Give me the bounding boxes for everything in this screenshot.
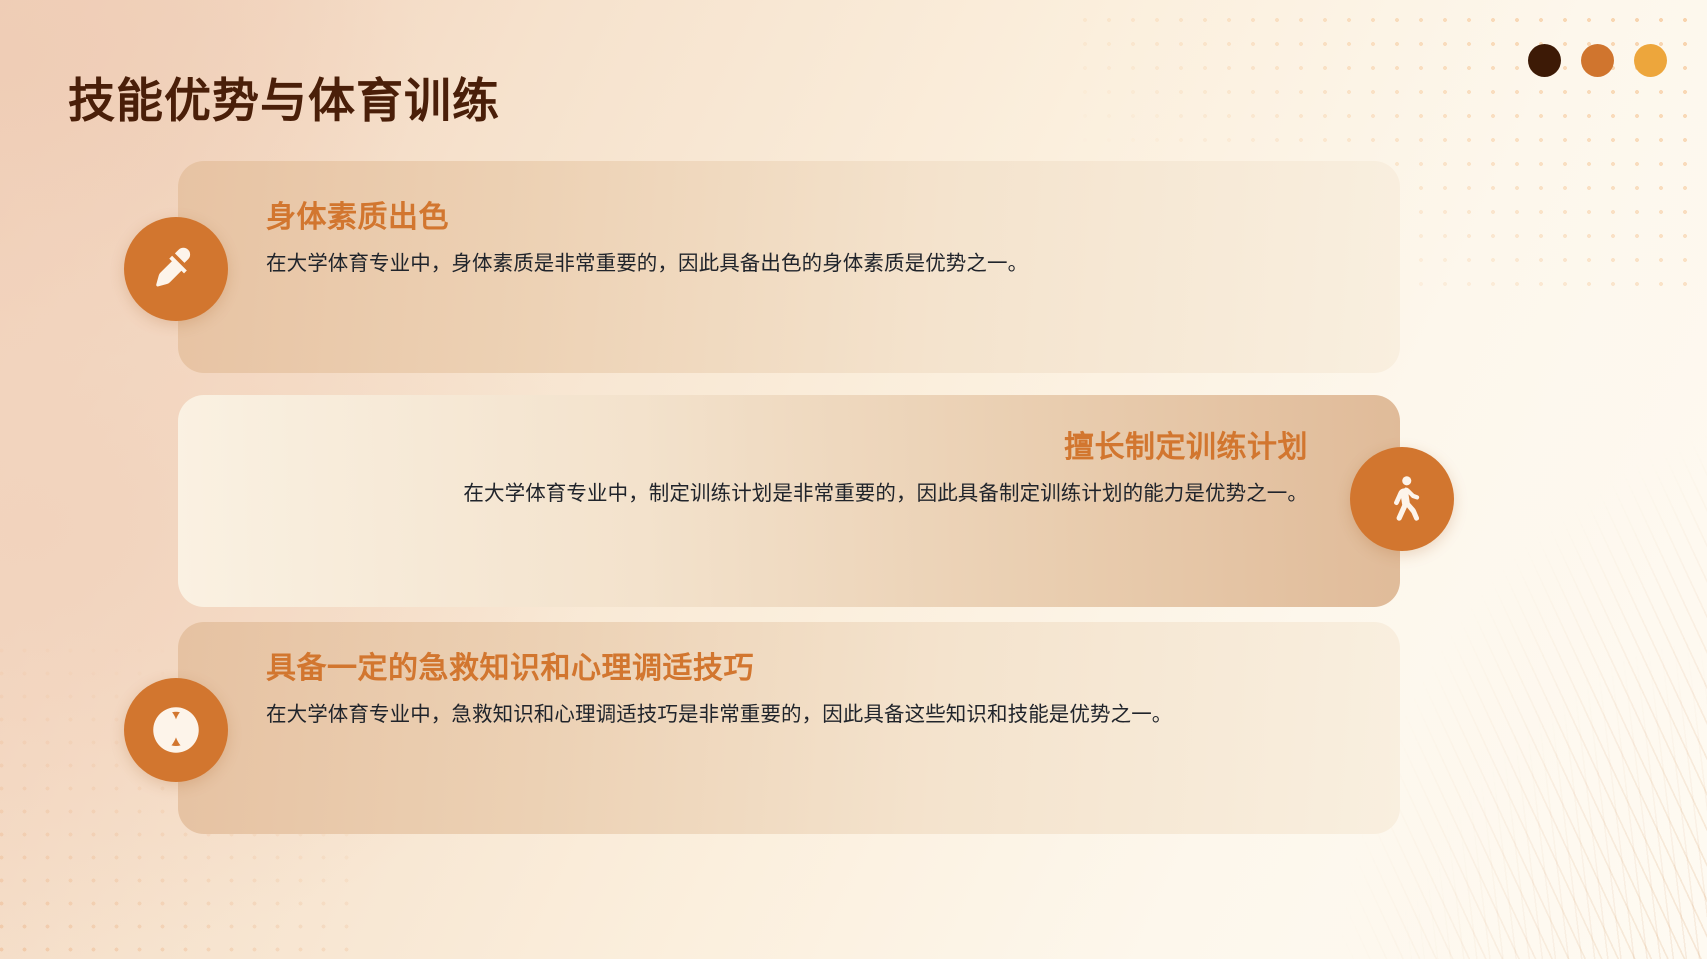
decorative-dots-group (1528, 44, 1667, 77)
card-title: 具备一定的急救知识和心理调适技巧 (266, 649, 1326, 688)
feature-card[interactable]: 擅长制定训练计划 在大学体育专业中，制定训练计划是非常重要的，因此具备制定训练计… (178, 395, 1400, 607)
card-text-block: 具备一定的急救知识和心理调适技巧 在大学体育专业中，急救知识和心理调适技巧是非常… (266, 649, 1326, 733)
card-body: 在大学体育专业中，身体素质是非常重要的，因此具备出色的身体素质是优势之一。 (266, 246, 1346, 282)
microphone-icon (124, 217, 228, 321)
baseball-icon (124, 678, 228, 782)
feature-card[interactable]: 具备一定的急救知识和心理调适技巧 在大学体育专业中，急救知识和心理调适技巧是非常… (178, 622, 1400, 834)
card-text-block: 擅长制定训练计划 在大学体育专业中，制定训练计划是非常重要的，因此具备制定训练计… (206, 428, 1308, 512)
card-title: 身体素质出色 (266, 198, 1346, 237)
deco-dot-amber (1634, 44, 1667, 77)
deco-dot-dark (1528, 44, 1561, 77)
feature-card[interactable]: 身体素质出色 在大学体育专业中，身体素质是非常重要的，因此具备出色的身体素质是优… (178, 161, 1400, 373)
page-title: 技能优势与体育训练 (68, 62, 500, 131)
walking-person-icon (1350, 447, 1454, 551)
card-body: 在大学体育专业中，制定训练计划是非常重要的，因此具备制定训练计划的能力是优势之一… (206, 476, 1308, 512)
card-text-block: 身体素质出色 在大学体育专业中，身体素质是非常重要的，因此具备出色的身体素质是优… (266, 198, 1346, 282)
slide-canvas: 技能优势与体育训练 身体素质出色 在大学体育专业中，身体素质是非常重要的，因此具… (0, 0, 1707, 959)
card-body: 在大学体育专业中，急救知识和心理调适技巧是非常重要的，因此具备这些知识和技能是优… (266, 697, 1306, 733)
card-title: 擅长制定训练计划 (206, 428, 1308, 467)
deco-dot-orange (1581, 44, 1614, 77)
